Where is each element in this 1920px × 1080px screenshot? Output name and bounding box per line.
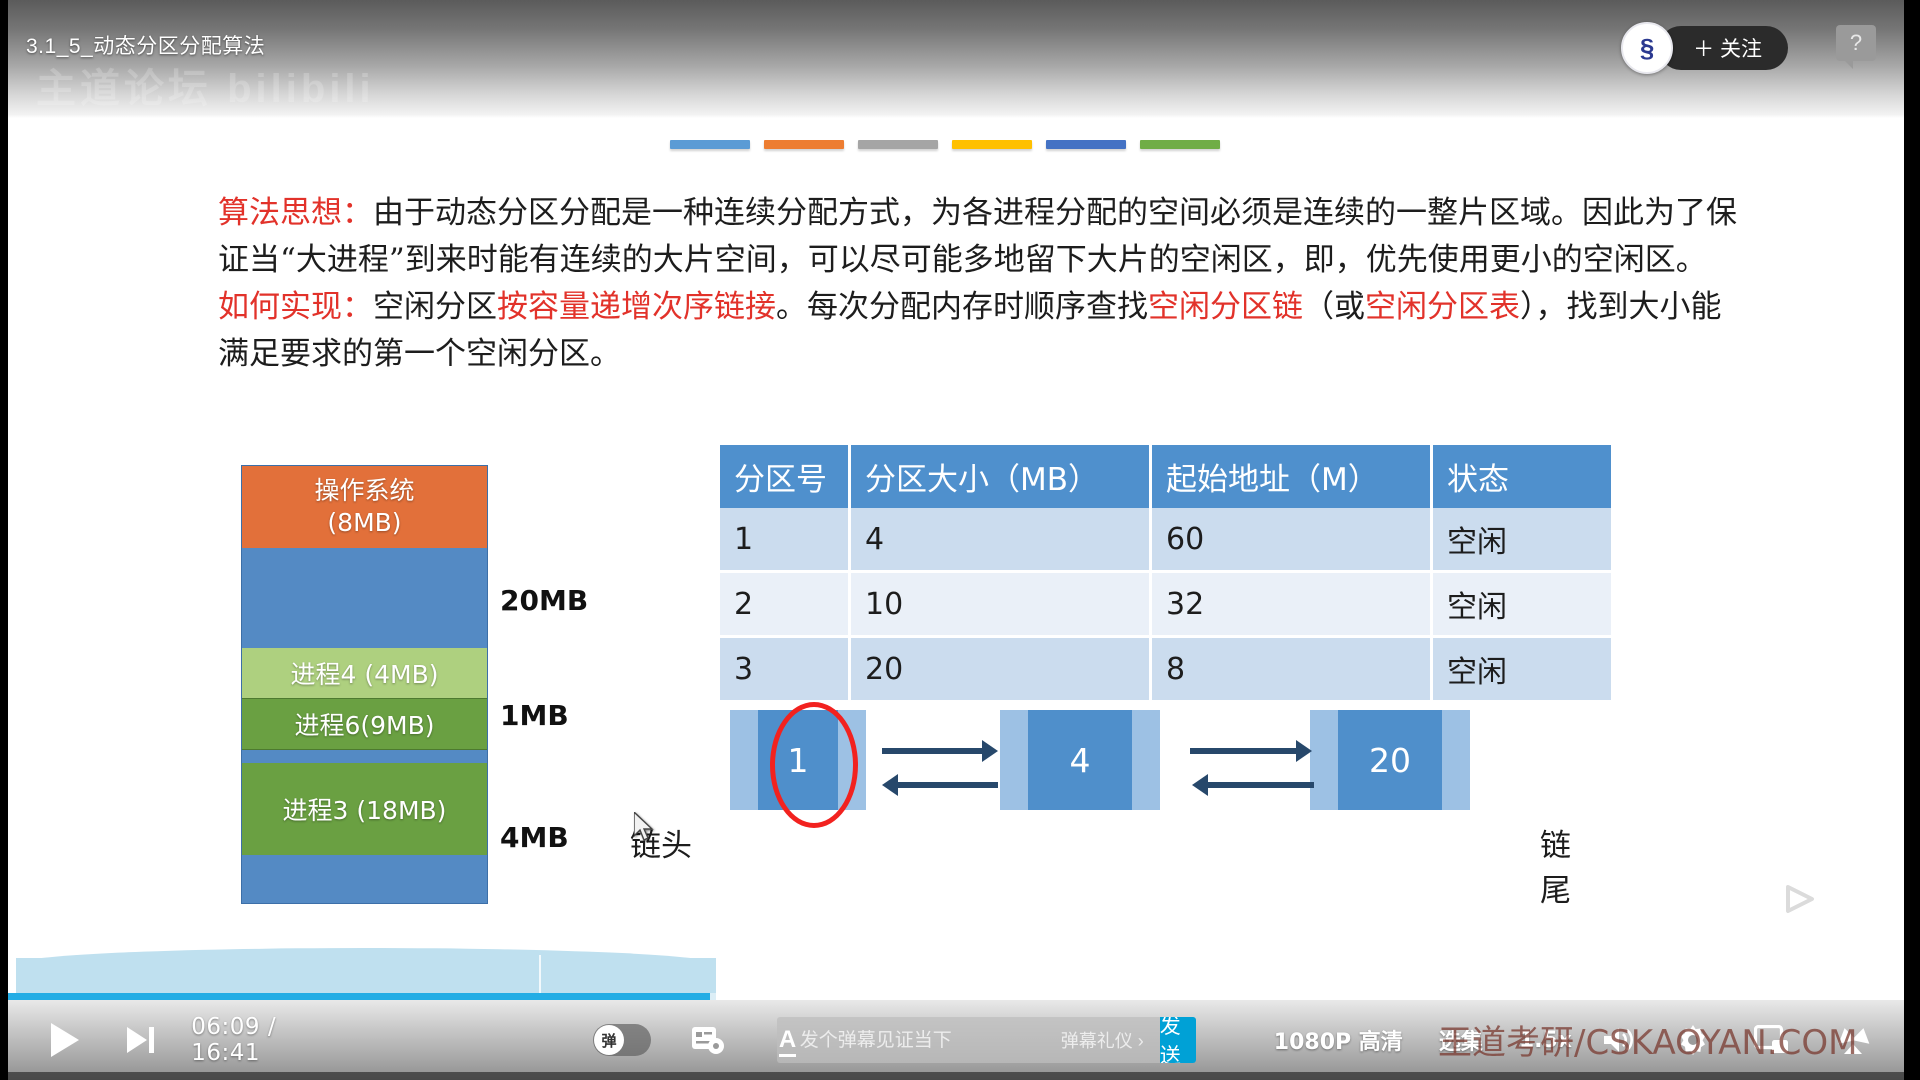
node-right-pointer-cell [1442, 710, 1470, 810]
highlight-circle-annotation [770, 702, 858, 828]
paragraph-run-2-3: 空闲分区链 [1148, 289, 1303, 325]
episodes-button[interactable]: 选集 [1439, 1024, 1483, 1056]
accent-bar-3 [858, 140, 938, 149]
node-left-pointer-cell [1310, 710, 1338, 810]
list-node-4-inner: 4 [1000, 710, 1160, 810]
partition-table: 分区号 分区大小（MB） 起始地址（M） 状态 1 4 60 空闲 2 10 3… [720, 445, 1614, 703]
cell-start-address: 60 [1151, 508, 1432, 572]
follow-control-group[interactable]: § ＋ 关注 [1621, 22, 1788, 74]
memory-block-os-size: (8MB) [327, 507, 401, 539]
paragraph-run-1-0: 由于动态分区分配是一种连续分配方式，为各进程分配的空间必须是连续的一整片区域。因… [218, 195, 1737, 278]
avatar-logo-mark: § [1640, 35, 1654, 61]
cell-partition-no: 1 [720, 508, 850, 572]
channel-ghost-watermark: 主道论坛 bilibili [36, 56, 375, 114]
chain-tail-label: 链尾 [1540, 820, 1590, 910]
accent-bar-1 [670, 140, 750, 149]
node-right-pointer-cell [1132, 710, 1160, 810]
arrow-node4-to-node1 [898, 782, 998, 788]
video-title: 3.1_5_动态分区分配算法 [26, 30, 265, 60]
progress-played [8, 993, 710, 1000]
memory-layout-diagram: 操作系统 (8MB) 进程4 (4MB) 进程6(9MB) 进程3 (18MB)… [241, 465, 488, 904]
table-header-partition-size: 分区大小（MB） [850, 445, 1151, 508]
table-header-row: 分区号 分区大小（MB） 起始地址（M） 状态 [720, 445, 1613, 508]
avatar[interactable]: § [1621, 22, 1673, 74]
accent-bar-2 [764, 140, 844, 149]
memory-side-label-4mb: 4MB [500, 821, 569, 854]
memory-block-os: 操作系统 (8MB) [242, 466, 487, 548]
accent-bar-5 [1046, 140, 1126, 149]
progress-chapter-tick [539, 955, 541, 993]
paragraph-run-2-0: 空闲分区 [373, 289, 497, 325]
danmaku-settings-icon[interactable] [691, 1025, 725, 1055]
memory-block-process4: 进程4 (4MB) [242, 648, 487, 698]
node-value: 20 [1338, 710, 1442, 810]
paragraph-run-2-1: 按容量递增次序链接 [497, 289, 776, 325]
memory-block-free-4mb [242, 855, 487, 903]
memory-side-label-20mb: 20MB [500, 584, 588, 617]
cell-state: 空闲 [1432, 508, 1613, 572]
node-left-pointer-cell [730, 710, 758, 810]
table-row: 3 20 8 空闲 [720, 637, 1613, 702]
node-value: 4 [1028, 710, 1132, 810]
player-control-bar: 06:09 / 16:41 弹 A 弹幕礼仪 › 发送 1080P 高清 选集 … [8, 1000, 1904, 1080]
progress-bar[interactable] [8, 993, 1904, 1000]
table-header-start-address: 起始地址（M） [1151, 445, 1432, 508]
picture-in-picture-icon[interactable] [1754, 1025, 1790, 1055]
memory-block-os-name: 操作系统 [314, 475, 414, 507]
table-header-state: 状态 [1432, 445, 1613, 508]
free-partition-linked-list: 1 4 20 链头 链尾 [730, 710, 1590, 815]
cell-partition-size: 20 [850, 637, 1151, 702]
paragraph-run-2-2: 。每次分配内存时顺序查找 [776, 289, 1148, 325]
list-node-20: 20 [1310, 710, 1470, 810]
slide-body-text: 算法思想：由于动态分区分配是一种连续分配方式，为各进程分配的空间必须是连续的一整… [218, 190, 1738, 378]
table-header-partition-no: 分区号 [720, 445, 850, 508]
quality-selector[interactable]: 1080P 高清 [1274, 1024, 1403, 1056]
cell-partition-no: 3 [720, 637, 850, 702]
send-danmaku-button[interactable]: 发送 [1160, 1017, 1196, 1063]
danmaku-toggle[interactable]: 弹 [593, 1024, 651, 1056]
cell-state: 空闲 [1432, 637, 1613, 702]
cell-start-address: 32 [1151, 572, 1432, 637]
danmaku-style-icon[interactable]: A [777, 1026, 797, 1054]
danmaku-input-group[interactable]: A 弹幕礼仪 › 发送 [777, 1017, 1195, 1063]
cell-partition-size: 10 [850, 572, 1151, 637]
settings-gear-icon[interactable] [1676, 1023, 1710, 1057]
memory-block-free-1mb [242, 750, 487, 763]
bilibili-tv-logo-icon [1748, 851, 1844, 940]
play-icon[interactable] [44, 1021, 85, 1059]
memory-block-process6: 进程6(9MB) [242, 698, 487, 750]
node-left-pointer-cell [1000, 710, 1028, 810]
site-watermark: 王道考研/CSKAOYAN.COM [1438, 1015, 1858, 1064]
accent-bar-4 [952, 140, 1032, 149]
video-player-stage: 最佳适应算法 算法思想：由于动态分区分配是一种连续分配方式，为各进程分配的空间必… [0, 0, 1920, 1080]
title-accent-bars [670, 140, 1220, 149]
cell-state: 空闲 [1432, 572, 1613, 637]
playback-speed[interactable]: 1.5x [1519, 1028, 1572, 1053]
table-row: 2 10 32 空闲 [720, 572, 1613, 637]
widescreen-icon[interactable] [1836, 1026, 1870, 1054]
table-row: 1 4 60 空闲 [720, 508, 1613, 572]
arrow-node20-to-node4 [1208, 782, 1314, 788]
memory-block-process3: 进程3 (18MB) [242, 763, 487, 855]
paragraph-run-2-4: （或 [1303, 289, 1365, 325]
arrow-node4-to-node20 [1190, 748, 1296, 754]
danmaku-input[interactable] [798, 1028, 1045, 1052]
arrow-node1-to-node4 [882, 748, 982, 754]
cell-start-address: 8 [1151, 637, 1432, 702]
paragraph-label-1: 算法思想： [218, 195, 373, 231]
volume-icon[interactable] [1602, 1025, 1634, 1055]
cell-partition-no: 2 [720, 572, 850, 637]
memory-block-free-20mb [242, 548, 487, 648]
screen-bottom-edge [8, 1072, 1904, 1080]
cell-partition-size: 4 [850, 508, 1151, 572]
follow-button[interactable]: ＋ 关注 [1659, 26, 1788, 70]
slide-canvas: 最佳适应算法 算法思想：由于动态分区分配是一种连续分配方式，为各进程分配的空间必… [8, 0, 1904, 1000]
danmaku-etiquette-link[interactable]: 弹幕礼仪 › [1045, 1027, 1160, 1053]
paragraph-implementation: 如何实现：空闲分区按容量递增次序链接。每次分配内存时顺序查找空闲分区链（或空闲分… [218, 284, 1738, 378]
paragraph-algorithm-idea: 算法思想：由于动态分区分配是一种连续分配方式，为各进程分配的空间必须是连续的一整… [218, 190, 1738, 284]
player-top-bar: 主道论坛 bilibili 3.1_5_动态分区分配算法 § ＋ 关注 ? [8, 0, 1904, 118]
time-display: 06:09 / 16:41 [191, 1014, 343, 1066]
next-episode-icon[interactable] [123, 1025, 157, 1055]
paragraph-label-2: 如何实现： [218, 289, 373, 325]
danmaku-toggle-knob: 弹 [594, 1025, 624, 1055]
help-icon[interactable]: ? [1836, 25, 1876, 61]
paragraph-run-2-5: 空闲分区表 [1365, 289, 1520, 325]
accent-bar-6 [1140, 140, 1220, 149]
memory-side-label-1mb: 1MB [500, 699, 569, 732]
